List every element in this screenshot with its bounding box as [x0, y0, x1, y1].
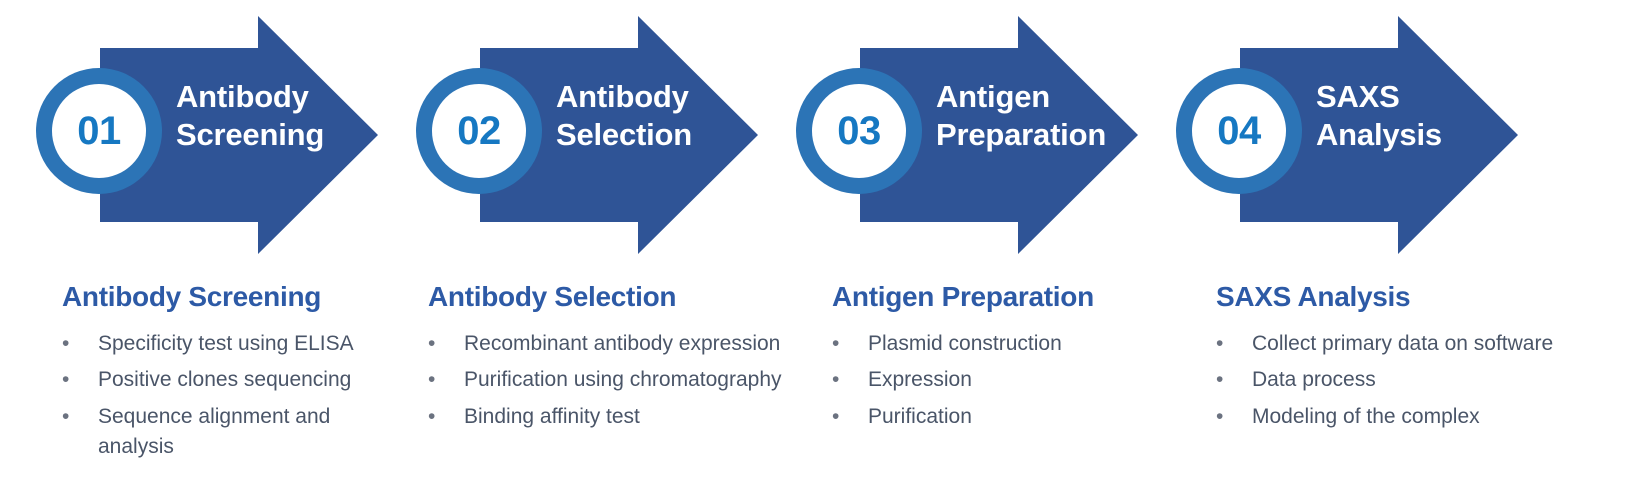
bullet-icon: •: [832, 329, 839, 359]
bullet-icon: •: [1216, 329, 1223, 359]
step-badge-02: 02: [416, 68, 542, 194]
step-label-01: Antibody Screening: [176, 78, 356, 154]
steps-row: 01 Antibody Screening 02 Antibody Select…: [0, 0, 1625, 270]
step-label-03: Antigen Preparation: [936, 78, 1136, 154]
step-number-02: 02: [457, 111, 501, 151]
detail-list-4: • Collect primary data on software • Dat…: [1216, 329, 1616, 432]
step-card-04[interactable]: 04 SAXS Analysis: [1176, 0, 1576, 270]
list-item-text: Modeling of the complex: [1252, 405, 1480, 428]
step-number-03: 03: [837, 111, 881, 151]
step-label-line1-01: Antibody: [176, 79, 309, 114]
list-item: • Sequence alignment and analysis: [62, 402, 392, 463]
list-item: • Modeling of the complex: [1216, 402, 1616, 432]
list-item: • Recombinant antibody expression: [428, 329, 798, 359]
list-item-text: Binding affinity test: [464, 405, 640, 428]
bullet-icon: •: [428, 402, 435, 432]
bullet-icon: •: [1216, 402, 1223, 432]
list-item-text: Recombinant antibody expression: [464, 332, 780, 355]
list-item: • Purification: [832, 402, 1172, 432]
step-badge-04: 04: [1176, 68, 1302, 194]
bullet-icon: •: [1216, 365, 1223, 395]
step-badge-face-04: 04: [1192, 84, 1286, 178]
step-label-line2-01: Screening: [176, 116, 356, 154]
list-item-text: Positive clones sequencing: [98, 368, 351, 391]
detail-column-antibody-screening: Antibody Screening • Specificity test us…: [62, 282, 392, 469]
list-item: • Positive clones sequencing: [62, 365, 392, 395]
step-badge-face-01: 01: [52, 84, 146, 178]
step-label-line1-03: Antigen: [936, 79, 1050, 114]
list-item: • Expression: [832, 365, 1172, 395]
list-item-text: Purification using chromatography: [464, 368, 782, 391]
step-label-04: SAXS Analysis: [1316, 78, 1496, 154]
bullet-icon: •: [428, 365, 435, 395]
bullet-icon: •: [62, 329, 69, 359]
bullet-icon: •: [832, 402, 839, 432]
detail-column-saxs-analysis: SAXS Analysis • Collect primary data on …: [1216, 282, 1616, 438]
list-item: • Plasmid construction: [832, 329, 1172, 359]
list-item: • Data process: [1216, 365, 1616, 395]
list-item-text: Data process: [1252, 368, 1376, 391]
detail-list-1: • Specificity test using ELISA • Positiv…: [62, 329, 392, 463]
list-item-text: Sequence alignment and analysis: [98, 405, 330, 458]
detail-list-3: • Plasmid construction • Expression • Pu…: [832, 329, 1172, 432]
list-item-text: Collect primary data on software: [1252, 332, 1553, 355]
step-number-04: 04: [1217, 111, 1261, 151]
step-card-03[interactable]: 03 Antigen Preparation: [796, 0, 1196, 270]
step-label-02: Antibody Selection: [556, 78, 736, 154]
step-badge-03: 03: [796, 68, 922, 194]
details-row: Antibody Screening • Specificity test us…: [0, 282, 1625, 491]
detail-list-2: • Recombinant antibody expression • Puri…: [428, 329, 798, 432]
step-label-line2-04: Analysis: [1316, 116, 1496, 154]
list-item-text: Expression: [868, 368, 972, 391]
detail-heading-2: Antibody Selection: [428, 282, 798, 313]
step-badge-face-03: 03: [812, 84, 906, 178]
list-item-text: Purification: [868, 405, 972, 428]
step-card-02[interactable]: 02 Antibody Selection: [416, 0, 816, 270]
step-label-line2-02: Selection: [556, 116, 736, 154]
step-card-01[interactable]: 01 Antibody Screening: [36, 0, 436, 270]
step-badge-01: 01: [36, 68, 162, 194]
list-item-text: Plasmid construction: [868, 332, 1062, 355]
process-flow-diagram: 01 Antibody Screening 02 Antibody Select…: [0, 0, 1625, 491]
bullet-icon: •: [62, 402, 69, 432]
step-label-line2-03: Preparation: [936, 116, 1136, 154]
step-label-line1-02: Antibody: [556, 79, 689, 114]
detail-column-antibody-selection: Antibody Selection • Recombinant antibod…: [428, 282, 798, 438]
bullet-icon: •: [832, 365, 839, 395]
list-item: • Collect primary data on software: [1216, 329, 1616, 359]
detail-heading-1: Antibody Screening: [62, 282, 392, 313]
step-badge-face-02: 02: [432, 84, 526, 178]
step-label-line1-04: SAXS: [1316, 79, 1400, 114]
list-item: • Binding affinity test: [428, 402, 798, 432]
list-item: • Purification using chromatography: [428, 365, 798, 395]
detail-heading-3: Antigen Preparation: [832, 282, 1172, 313]
step-number-01: 01: [77, 111, 121, 151]
list-item-text: Specificity test using ELISA: [98, 332, 354, 355]
detail-column-antigen-preparation: Antigen Preparation • Plasmid constructi…: [832, 282, 1172, 438]
list-item: • Specificity test using ELISA: [62, 329, 392, 359]
detail-heading-4: SAXS Analysis: [1216, 282, 1616, 313]
bullet-icon: •: [62, 365, 69, 395]
bullet-icon: •: [428, 329, 435, 359]
